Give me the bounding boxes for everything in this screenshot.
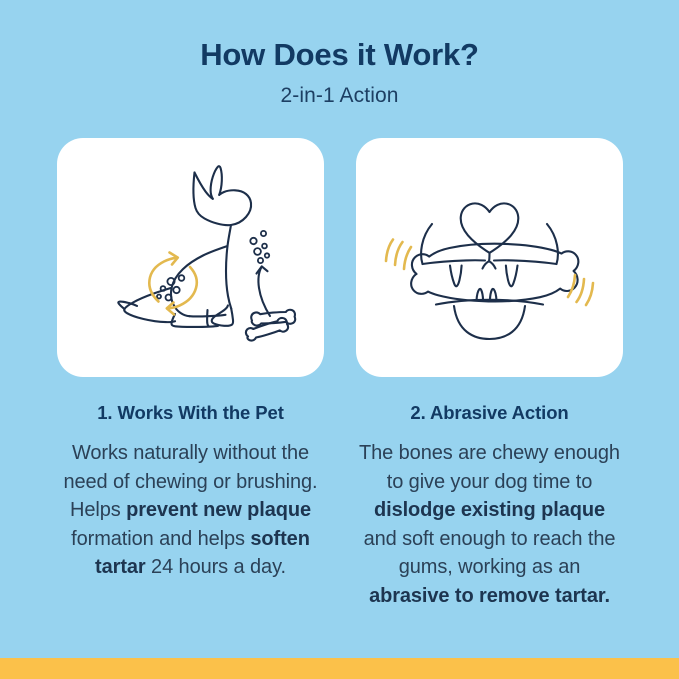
columns-container: 1. Works With the Pet Works naturally wi… [57,138,623,610]
motion-lines-left-icon [386,240,411,270]
caption-body-1: Works naturally without the need of chew… [57,439,324,582]
sitting-dog-with-circulation-arrows-icon [57,138,324,377]
page-title: How Does it Work? [0,36,679,74]
column-abrasive-action: 2. Abrasive Action The bones are chewy e… [356,138,623,610]
header: How Does it Work? 2-in-1 Action [0,36,679,110]
column-works-with-the-pet: 1. Works With the Pet Works naturally wi… [57,138,324,610]
caption-title-1: 1. Works With the Pet [57,401,324,425]
dog-muzzle-chewing-bone-icon [356,138,623,377]
motion-lines-right-icon [568,275,593,305]
caption-title-2: 2. Abrasive Action [356,401,623,425]
illustration-card-1 [57,138,324,377]
bottom-accent-bar [0,658,679,679]
caption-body-2: The bones are chewy enough to give your … [356,439,623,610]
page-subtitle: 2-in-1 Action [0,82,679,110]
infographic-page: How Does it Work? 2-in-1 Action [0,0,679,679]
illustration-card-2 [356,138,623,377]
